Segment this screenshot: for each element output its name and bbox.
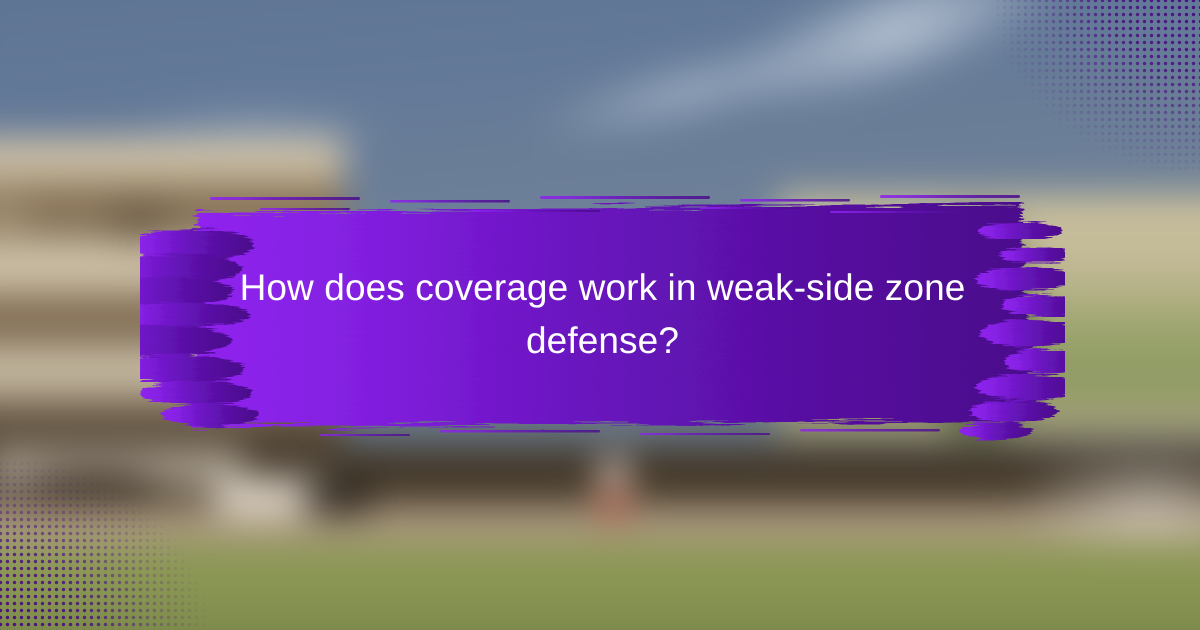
dark-panel [24,471,165,507]
person-figure [600,457,628,521]
dark-object [306,485,370,513]
grass-field [0,542,1200,630]
banner-canvas: How does coverage work in weak-side zone… [0,0,1200,630]
page-title: How does coverage work in weak-side zone… [223,261,983,367]
window-blur [0,199,31,240]
headline-block: How does coverage work in weak-side zone… [150,183,1055,445]
